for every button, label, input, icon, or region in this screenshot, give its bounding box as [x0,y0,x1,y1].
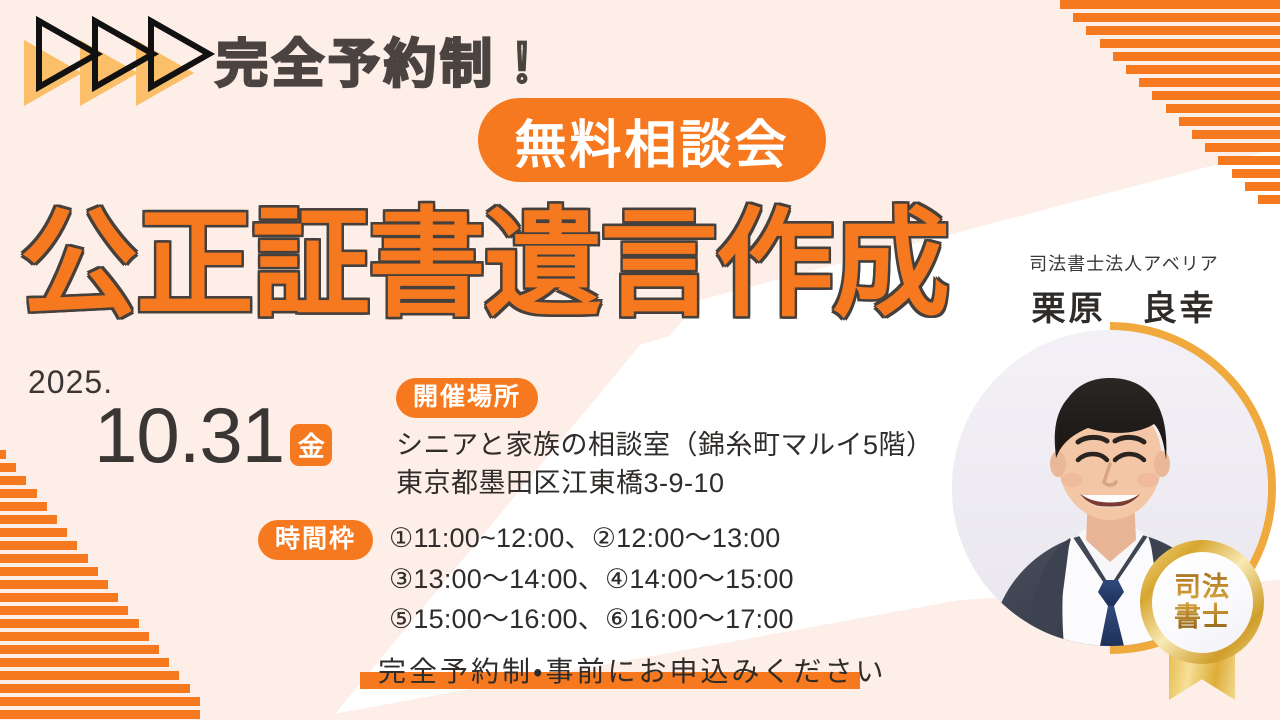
venue-block: 開催場所 シニアと家族の相談室（錦糸町マルイ5階） 東京都墨田区江東橋3-9-1… [396,378,933,503]
presenter-block: 司法書士法人アベリア 栗原 良幸 [1004,250,1244,330]
stripe-segment [0,710,200,719]
stripe-segment [1139,78,1280,87]
stripe-segment [0,671,179,680]
medal-inner: 司法 書士 [1152,552,1253,653]
event-date-block: 2025. 10.31 金 [28,366,332,472]
stripe-segment [1258,195,1280,204]
stripe-segment [0,697,200,706]
stripe-segment [0,567,98,576]
stripe-segment [0,619,139,628]
stripes-decoration-top-right [1060,0,1280,205]
timeslot-line-1: ①11:00~12:00、②12:00～13:00 [389,518,794,559]
stripe-segment [1086,26,1280,35]
medal-label-line2: 書士 [1174,602,1230,632]
stripe-segment [1100,39,1280,48]
event-weekday-badge: 金 [290,424,332,466]
footer-note: 完全予約制・事前にお申込みください [360,650,905,692]
timeslot-line-2: ③13:00～14:00、④14:00～15:00 [389,559,794,600]
stripe-segment [0,606,128,615]
stripe-segment [0,541,77,550]
tagline-text: 完全予約制！ [216,22,552,97]
timeslot-line-3: ⑤15:00～16:00、⑥16:00～17:00 [389,599,794,640]
timeslots-label-wrap: 時間枠 [258,518,373,560]
venue-line-2: 東京都墨田区江東橋3-9-10 [396,464,933,502]
stripe-segment [1060,0,1280,9]
stripe-segment [0,580,108,589]
stripe-segment [1218,156,1280,165]
timeslots-list: ①11:00~12:00、②12:00～13:00 ③13:00～14:00、④… [389,518,794,640]
stripe-segment [0,684,190,693]
event-month-day: 10.31 [94,400,284,472]
stripe-segment [1192,130,1280,139]
medal-label: 司法 書士 [1174,572,1230,632]
stripe-segment [1073,13,1280,22]
stripe-segment [0,632,149,641]
timeslots-block: 時間枠 ①11:00~12:00、②12:00～13:00 ③13:00～14:… [258,518,794,640]
presenter-organization: 司法書士法人アベリア [1004,250,1244,276]
stripe-segment [1152,91,1280,100]
stripes-decoration-bottom-left [0,450,200,720]
stripe-segment [1232,169,1280,178]
page-title: 公正証書遺言作成 [20,196,948,335]
stripe-segment [1179,117,1280,126]
stripe-segment [1113,52,1280,61]
stripe-segment [0,593,118,602]
venue-label-pill: 開催場所 [396,378,538,418]
stripe-segment [0,658,169,667]
triple-play-arrow-icon [18,14,218,112]
stripe-segment [0,476,26,485]
medal-label-line1: 司法 [1174,572,1230,602]
stripe-segment [0,489,37,498]
stripe-segment [0,515,57,524]
stripe-segment [0,463,16,472]
stripe-segment [1166,104,1280,113]
venue-line-1: シニアと家族の相談室（錦糸町マルイ5階） [396,426,933,464]
poster-root: 完全予約制！ 無料相談会 公正証書遺言作成 司法書士法人アベリア 栗原 良幸 [0,0,1280,720]
timeslots-label-pill: 時間枠 [258,520,373,560]
free-consultation-badge: 無料相談会 [478,98,826,182]
stripe-segment [0,528,67,537]
event-date-row: 10.31 金 [94,400,332,472]
stripe-segment [1126,65,1280,74]
free-consultation-badge-label: 無料相談会 [514,103,789,178]
stripe-segment [1205,143,1280,152]
stripe-segment [0,502,47,511]
stripe-segment [1245,182,1280,191]
medal-disc: 司法 書士 [1140,540,1264,664]
qualification-medal: 司法 書士 [1140,540,1264,700]
venue-address: シニアと家族の相談室（錦糸町マルイ5階） 東京都墨田区江東橋3-9-10 [396,426,933,503]
stripe-segment [0,554,88,563]
stripe-segment [0,645,159,654]
stripe-segment [0,450,6,459]
